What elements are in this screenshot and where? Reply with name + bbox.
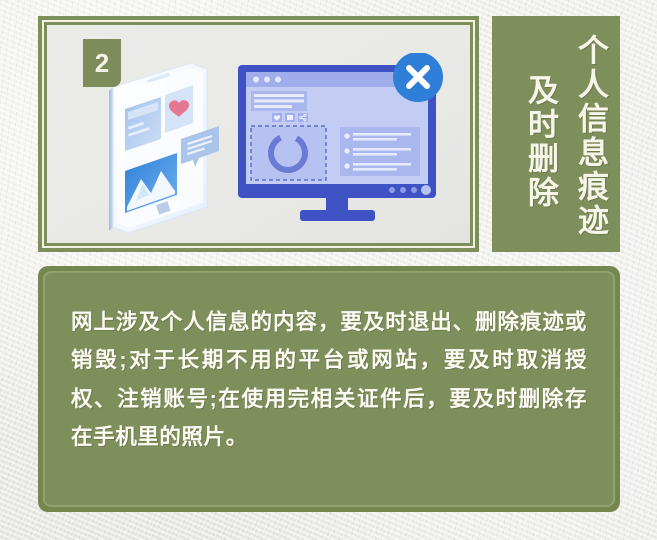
body-text-panel-inner: 网上涉及个人信息的内容，要及时退出、删除痕迹或销毁;对于长期不用的平台或网站，要… xyxy=(43,271,615,507)
title-column-right: 个人信息痕迹 xyxy=(571,34,608,238)
step-number-badge: 2 xyxy=(83,39,121,87)
body-text-panel: 网上涉及个人信息的内容，要及时退出、删除痕迹或销毁;对于长期不用的平台或网站，要… xyxy=(38,266,620,512)
body-paragraph: 网上涉及个人信息的内容，要及时退出、删除痕迹或销毁;对于长期不用的平台或网站，要… xyxy=(71,303,587,456)
monitor-list-panel xyxy=(340,127,420,176)
selection-area xyxy=(251,126,326,180)
illustration-panel: 2 xyxy=(38,16,479,252)
close-x-button[interactable] xyxy=(393,53,443,102)
desktop-monitor-illustration xyxy=(232,53,452,238)
vertical-title-panel: 个人信息痕迹 及时删除 xyxy=(492,16,620,252)
monitor-svg xyxy=(232,53,452,238)
title-column-left: 及时删除 xyxy=(521,74,558,210)
monitor-toolbar-icons xyxy=(272,113,308,122)
illustration-inner-border: 2 xyxy=(42,20,475,248)
illustration-canvas: 2 xyxy=(47,25,470,243)
